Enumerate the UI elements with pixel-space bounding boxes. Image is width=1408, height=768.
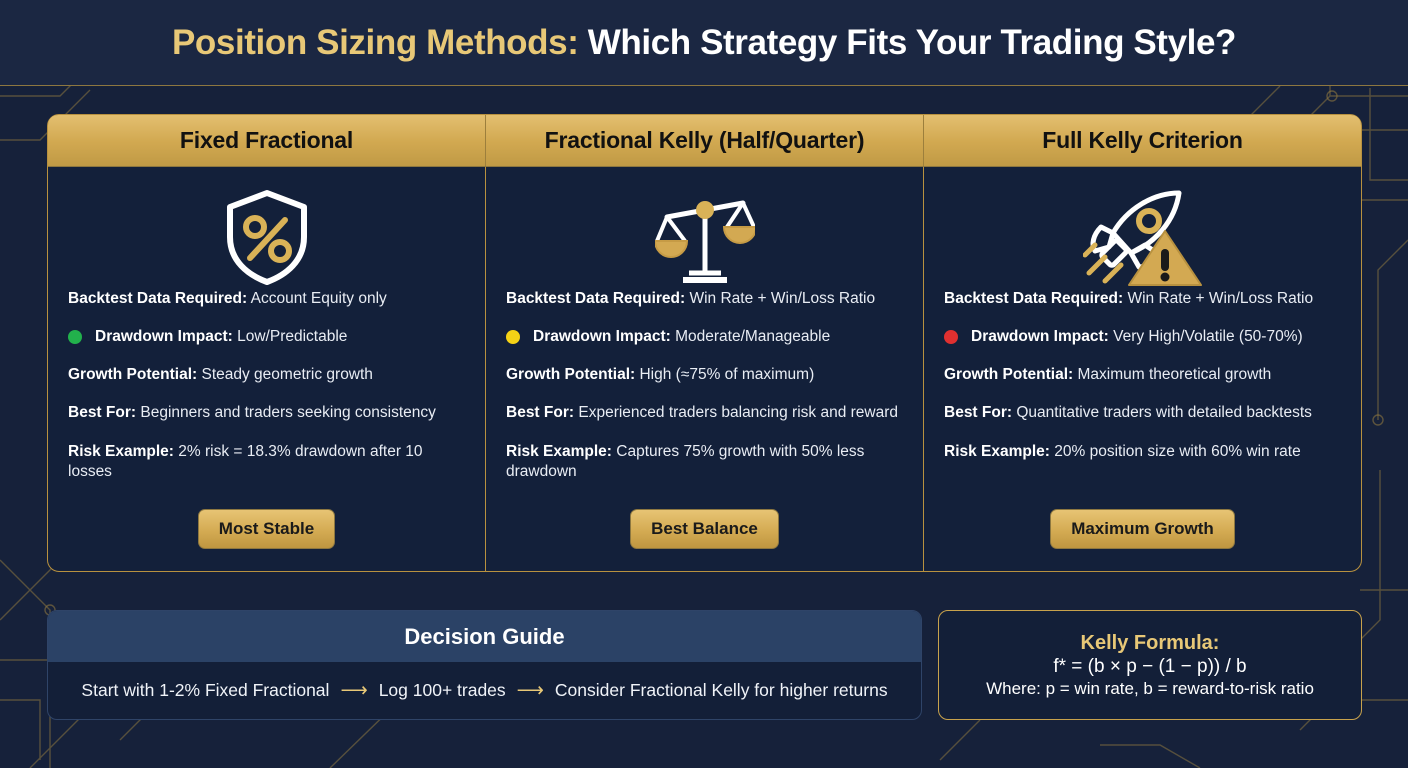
column-3-rows: Backtest Data Required: Win Rate + Win/L…	[944, 289, 1341, 480]
row-label: Growth Potential:	[68, 366, 197, 383]
row-value: Win Rate + Win/Loss Ratio	[1127, 290, 1313, 307]
row-best-for: Best For: Quantitative traders with deta…	[944, 403, 1341, 423]
column-fixed-fractional: Backtest Data Required: Account Equity o…	[48, 167, 485, 571]
row-label: Drawdown Impact:	[971, 328, 1109, 345]
column-header-fractional-kelly: Fractional Kelly (Half/Quarter)	[485, 115, 923, 166]
badge-wrap-1: Most Stable	[68, 509, 465, 571]
row-value: Experienced traders balancing risk and r…	[578, 404, 898, 421]
row-value: Beginners and traders seeking consistenc…	[140, 404, 436, 421]
decision-guide-panel: Decision Guide Start with 1-2% Fixed Fra…	[47, 610, 922, 720]
balance-scales-icon	[506, 185, 903, 289]
row-value: Moderate/Manageable	[675, 328, 830, 345]
kelly-formula-title: Kelly Formula:	[1081, 632, 1220, 655]
row-label: Risk Example:	[944, 443, 1050, 460]
row-growth-potential: Growth Potential: High (≈75% of maximum)	[506, 365, 903, 385]
status-dot-green	[68, 330, 82, 344]
column-header-fixed-fractional: Fixed Fractional	[48, 115, 485, 166]
row-label: Growth Potential:	[506, 366, 635, 383]
row-label: Drawdown Impact:	[95, 328, 233, 345]
badge-best-balance[interactable]: Best Balance	[630, 509, 779, 549]
row-growth-potential: Growth Potential: Steady geometric growt…	[68, 365, 465, 385]
decision-step-1: Start with 1-2% Fixed Fractional	[81, 680, 329, 701]
row-label: Backtest Data Required:	[944, 290, 1123, 307]
badge-wrap-2: Best Balance	[506, 509, 903, 571]
row-risk-example: Risk Example: Captures 75% growth with 5…	[506, 442, 903, 482]
badge-wrap-3: Maximum Growth	[944, 509, 1341, 571]
row-label: Best For:	[944, 404, 1012, 421]
row-value: Maximum theoretical growth	[1077, 366, 1271, 383]
row-best-for: Best For: Experienced traders balancing …	[506, 403, 903, 423]
rocket-warning-icon	[944, 185, 1341, 289]
decision-guide-steps: Start with 1-2% Fixed Fractional ⟶ Log 1…	[48, 662, 921, 719]
row-value: High (≈75% of maximum)	[639, 366, 814, 383]
kelly-formula-legend: Where: p = win rate, b = reward-to-risk …	[986, 679, 1314, 699]
row-value: Steady geometric growth	[201, 366, 372, 383]
row-label: Backtest Data Required:	[68, 290, 247, 307]
row-value: Very High/Volatile (50-70%)	[1113, 328, 1303, 345]
row-label: Best For:	[506, 404, 574, 421]
status-dot-red	[944, 330, 958, 344]
row-value: Win Rate + Win/Loss Ratio	[689, 290, 875, 307]
kelly-formula-panel: Kelly Formula: f* = (b × p − (1 − p)) / …	[938, 610, 1362, 720]
page-title-bar: Position Sizing Methods: Which Strategy …	[0, 0, 1408, 86]
row-backtest-data: Backtest Data Required: Account Equity o…	[68, 289, 465, 309]
row-best-for: Best For: Beginners and traders seeking …	[68, 403, 465, 423]
page-title-gold: Position Sizing Methods:	[172, 23, 579, 62]
row-backtest-data: Backtest Data Required: Win Rate + Win/L…	[506, 289, 903, 309]
row-value: Low/Predictable	[237, 328, 347, 345]
row-growth-potential: Growth Potential: Maximum theoretical gr…	[944, 365, 1341, 385]
row-label: Risk Example:	[506, 443, 612, 460]
comparison-card: Fixed Fractional Fractional Kelly (Half/…	[47, 114, 1362, 572]
decision-guide-title: Decision Guide	[48, 611, 921, 662]
row-value: 20% position size with 60% win rate	[1054, 443, 1300, 460]
row-backtest-data: Backtest Data Required: Win Rate + Win/L…	[944, 289, 1341, 309]
row-drawdown-impact: Drawdown Impact: Very High/Volatile (50-…	[944, 327, 1341, 347]
arrow-right-icon: ⟶	[506, 679, 555, 702]
decision-step-3: Consider Fractional Kelly for higher ret…	[555, 680, 888, 701]
decision-step-2: Log 100+ trades	[379, 680, 506, 701]
comparison-header-row: Fixed Fractional Fractional Kelly (Half/…	[48, 115, 1361, 167]
row-risk-example: Risk Example: 2% risk = 18.3% drawdown a…	[68, 442, 465, 482]
shield-percent-icon	[68, 185, 465, 289]
row-label: Backtest Data Required:	[506, 290, 685, 307]
column-2-rows: Backtest Data Required: Win Rate + Win/L…	[506, 289, 903, 500]
row-label: Growth Potential:	[944, 366, 1073, 383]
arrow-right-icon: ⟶	[329, 679, 378, 702]
badge-most-stable[interactable]: Most Stable	[198, 509, 335, 549]
column-full-kelly: Backtest Data Required: Win Rate + Win/L…	[923, 167, 1361, 571]
kelly-formula-equation: f* = (b × p − (1 − p)) / b	[1053, 656, 1246, 678]
row-value: Account Equity only	[251, 290, 387, 307]
comparison-body-row: Backtest Data Required: Account Equity o…	[48, 167, 1361, 571]
column-1-rows: Backtest Data Required: Account Equity o…	[68, 289, 465, 500]
status-dot-yellow	[506, 330, 520, 344]
column-header-full-kelly: Full Kelly Criterion	[923, 115, 1361, 166]
row-label: Drawdown Impact:	[533, 328, 671, 345]
column-fractional-kelly: Backtest Data Required: Win Rate + Win/L…	[485, 167, 923, 571]
badge-maximum-growth[interactable]: Maximum Growth	[1050, 509, 1235, 549]
row-label: Risk Example:	[68, 443, 174, 460]
row-label: Best For:	[68, 404, 136, 421]
row-drawdown-impact: Drawdown Impact: Low/Predictable	[68, 327, 465, 347]
row-drawdown-impact: Drawdown Impact: Moderate/Manageable	[506, 327, 903, 347]
page-title: Position Sizing Methods: Which Strategy …	[172, 23, 1236, 63]
row-risk-example: Risk Example: 20% position size with 60%…	[944, 442, 1341, 462]
page-title-white: Which Strategy Fits Your Trading Style?	[588, 23, 1236, 62]
row-value: Quantitative traders with detailed backt…	[1016, 404, 1312, 421]
